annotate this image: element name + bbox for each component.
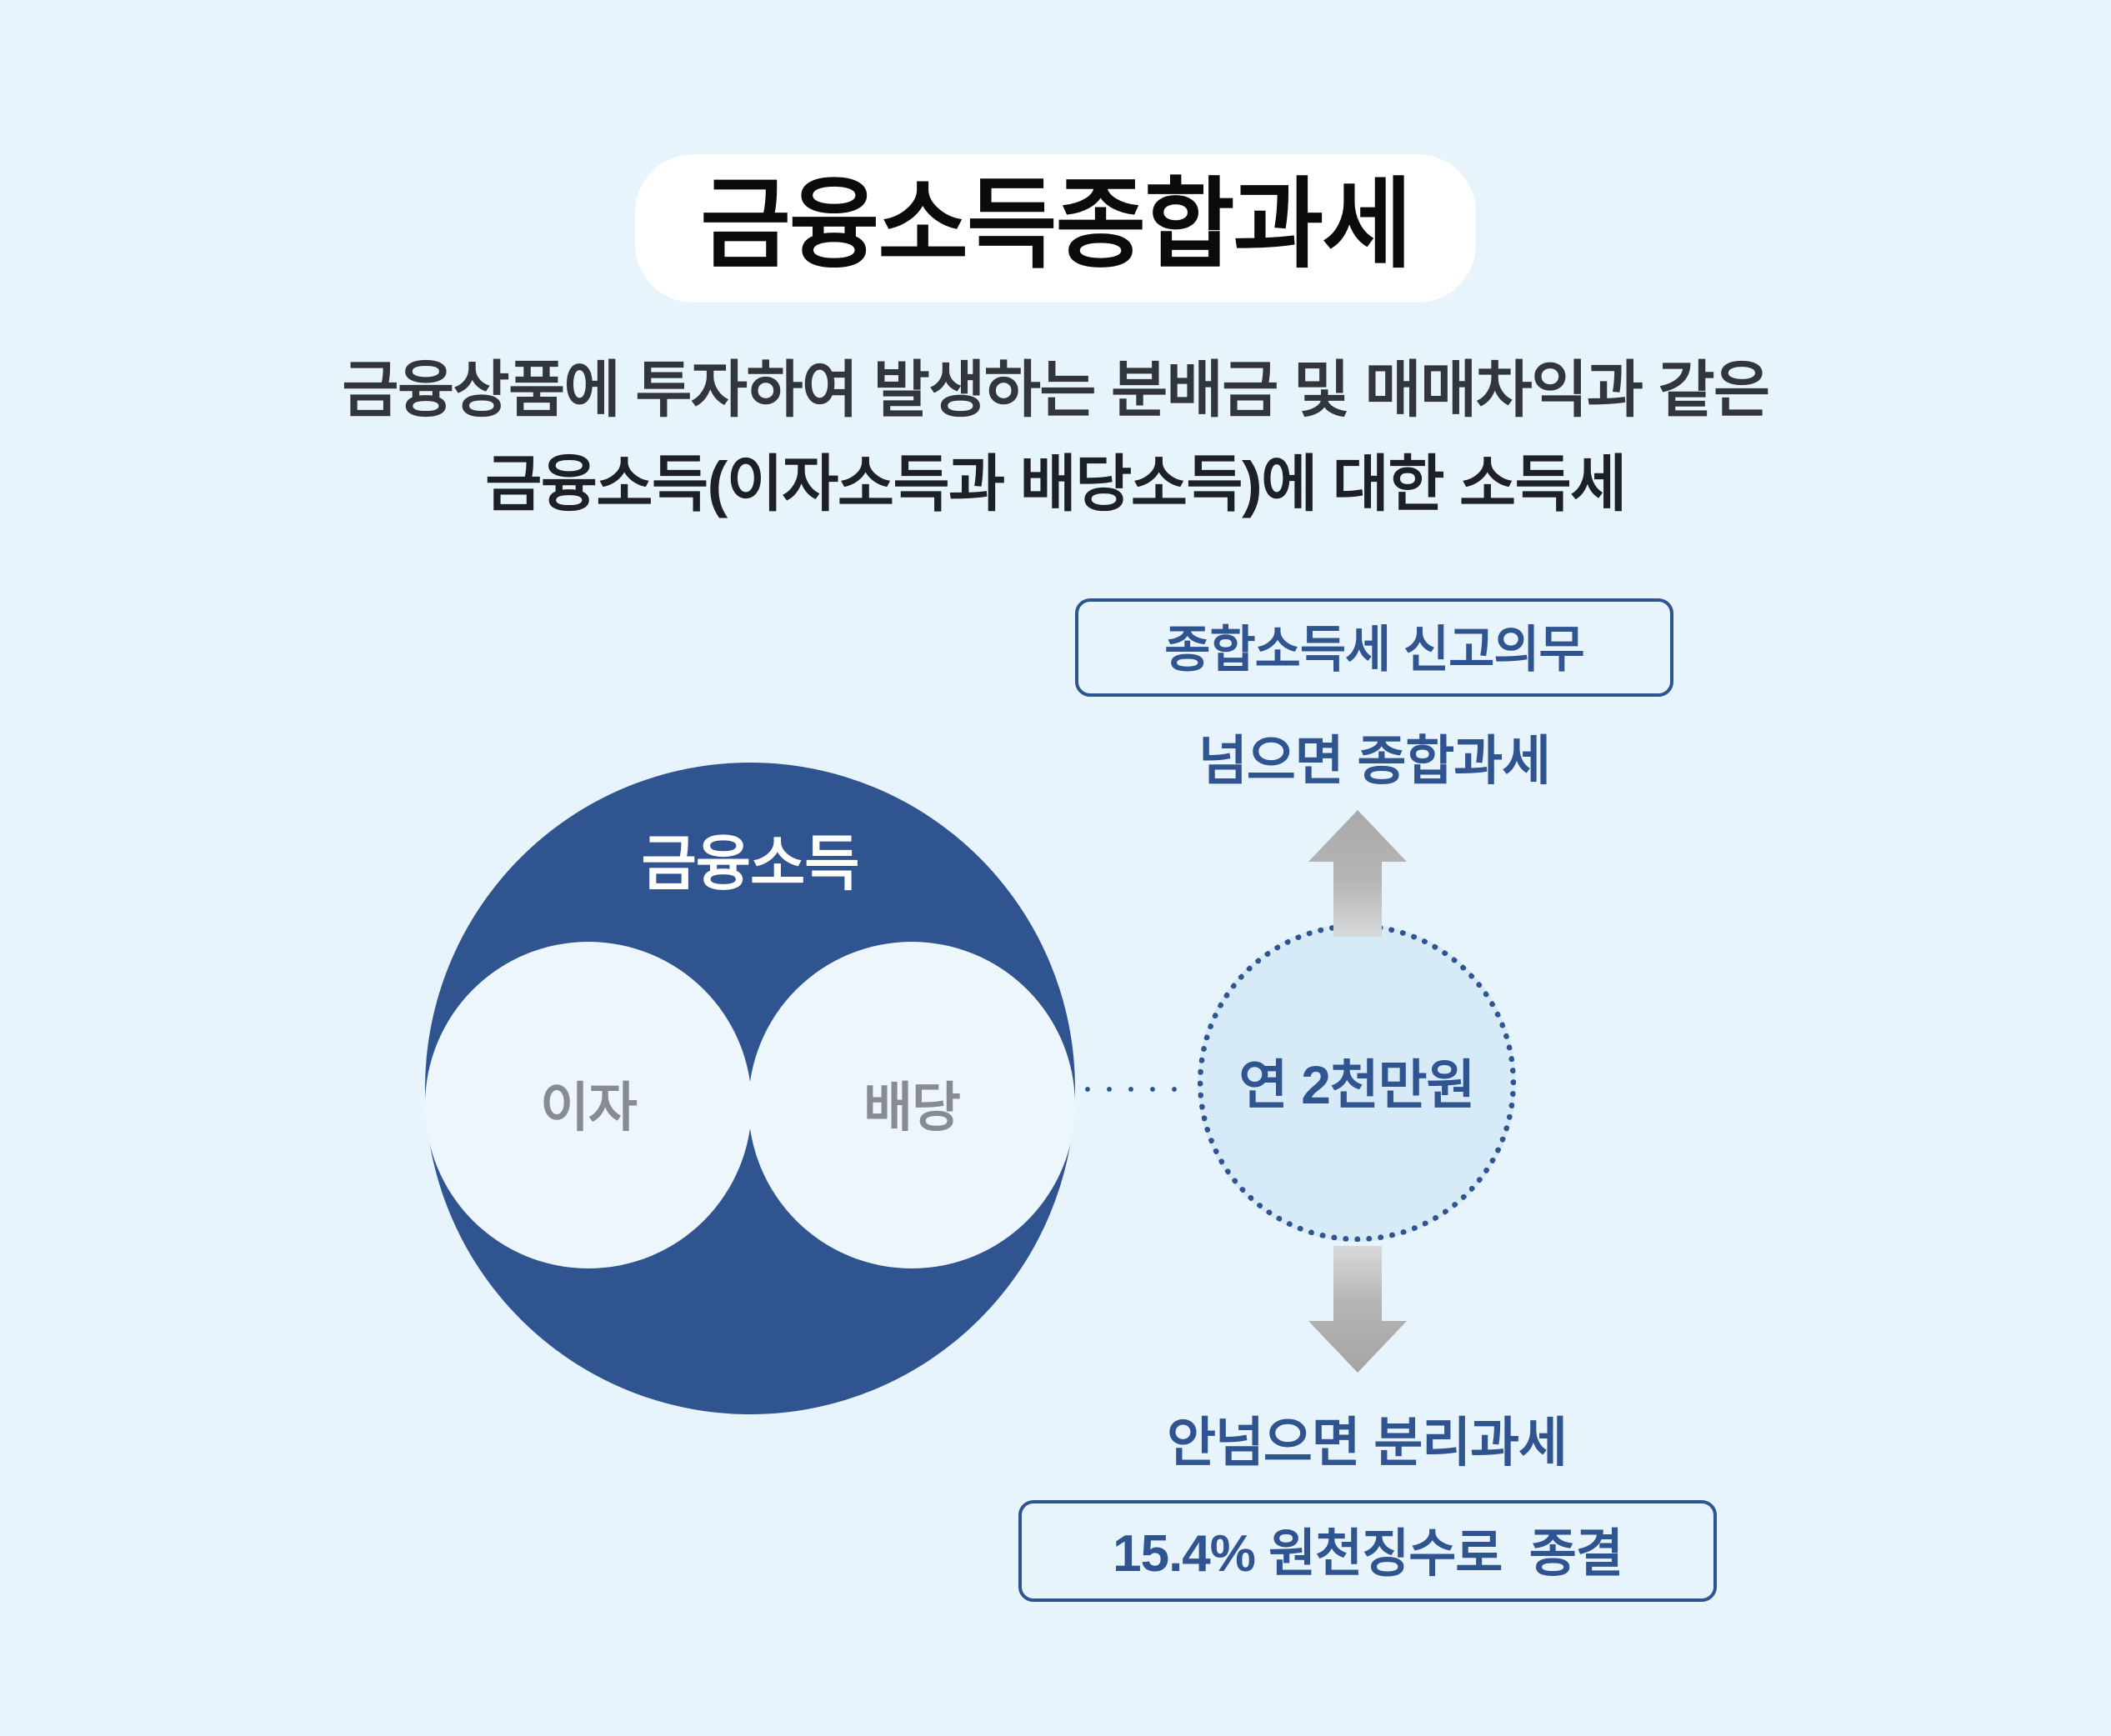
withholding-tax-box: 15.4% 원천징수로 종결 — [1018, 1500, 1717, 1602]
venn-circle-interest-label: 이자 — [540, 1065, 637, 1142]
arrow-up-icon — [1308, 810, 1407, 937]
page-title-pill: 금융소득종합과세 — [635, 154, 1475, 303]
subtitle-line-1: 금융상품에 투자하여 발생하는 분배금 및 매매차익과 같은 — [0, 346, 2111, 433]
comprehensive-tax-box: 종합소득세 신고의무 — [1075, 598, 1673, 697]
financial-income-venn-diagram: 금융소득 이자 배당 — [425, 763, 1075, 1414]
separate-tax-caption: 안넘으면 분리과세 — [1033, 1400, 1700, 1477]
arrow-down-icon — [1308, 1246, 1407, 1373]
dotted-connector-line — [1077, 1085, 1183, 1093]
comprehensive-tax-condition: 넘으면 — [1198, 731, 1357, 791]
separate-tax-result: 분리과세 — [1373, 1413, 1567, 1473]
subtitle-line-2: 금융소득(이자소득과 배당소득)에 대한 소득세 — [0, 440, 2111, 528]
venn-circle-dividend-label: 배당 — [863, 1065, 960, 1142]
page-title: 금융소득종합과세 — [700, 176, 1410, 274]
venn-circle-dividend: 배당 — [748, 942, 1075, 1268]
withholding-tax-box-label: 15.4% 원천징수로 종결 — [1113, 1511, 1623, 1586]
threshold-circle: 연 2천만원 — [1198, 923, 1516, 1242]
comprehensive-tax-caption: 넘으면 종합과세 — [1075, 718, 1673, 795]
separate-tax-condition: 안넘으면 — [1167, 1413, 1373, 1473]
comprehensive-tax-result: 종합과세 — [1357, 731, 1550, 791]
comprehensive-tax-box-label: 종합소득세 신고의무 — [1164, 609, 1583, 682]
header: 금융소득종합과세 금융상품에 투자하여 발생하는 분배금 및 매매차익과 같은 … — [0, 0, 2111, 528]
subtitle-block: 금융상품에 투자하여 발생하는 분배금 및 매매차익과 같은 금융소득(이자소득… — [0, 346, 2111, 528]
venn-outer-label: 금융소득 — [425, 814, 1075, 902]
venn-circle-interest: 이자 — [425, 942, 752, 1268]
threshold-label: 연 2천만원 — [1239, 1043, 1475, 1119]
